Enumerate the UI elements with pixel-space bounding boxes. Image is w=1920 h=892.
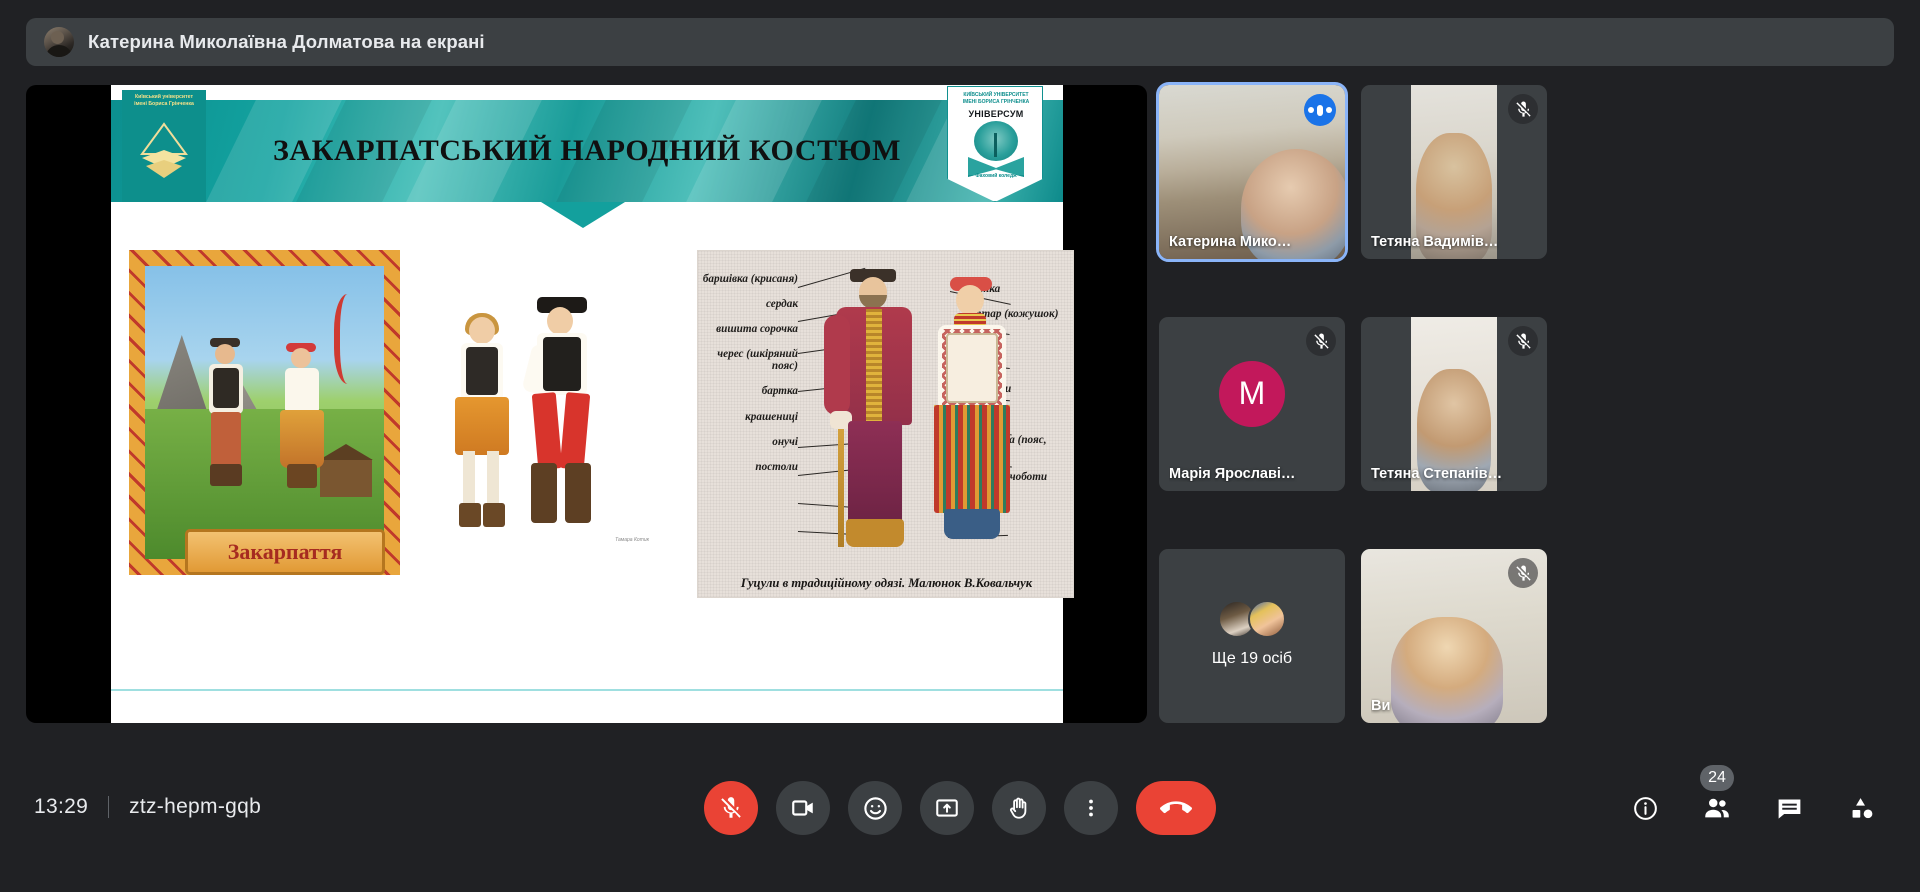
leave-call-button[interactable] — [1136, 781, 1216, 835]
right-logo-line2: ІМЕНІ БОРИСА ГРІНЧЕНКА — [963, 99, 1029, 105]
participant-tile-active-speaker[interactable]: Катерина Мико… — [1159, 85, 1345, 259]
diagram-caption: Гуцули в традиційному одязі. Малюнок В.К… — [698, 576, 1074, 591]
phone-hangup-icon — [1160, 792, 1192, 824]
chat-icon — [1775, 794, 1804, 823]
hand-icon — [1006, 795, 1032, 821]
male-figure-illustration — [826, 269, 922, 553]
mic-off-icon — [1306, 326, 1336, 356]
microphone-off-button[interactable] — [704, 781, 758, 835]
right-controls: 24 — [1622, 785, 1884, 831]
band-notch-decoration — [541, 202, 625, 228]
participant-name: Ви — [1371, 698, 1519, 714]
reactions-button[interactable] — [848, 781, 902, 835]
left-logo-line1: Київський університет — [135, 94, 193, 100]
avatar: M — [1219, 361, 1285, 427]
three-dots-icon — [1079, 796, 1103, 820]
participant-tile-self[interactable]: Ви — [1361, 549, 1547, 723]
slide-body: Закарпаття Тамара Котик баршівка (крисан… — [111, 228, 1063, 723]
presentation-slide: ЗАКАРПАТСЬКИЙ НАРОДНИЙ КОСТЮМ Київський … — [111, 85, 1063, 723]
participant-tile[interactable]: Тетяна Вадимів… — [1361, 85, 1547, 259]
book-emblem-icon — [136, 120, 192, 182]
camera-button[interactable] — [776, 781, 830, 835]
slide-divider-rule — [111, 689, 1063, 691]
call-controls — [704, 781, 1216, 835]
right-logo-sub: Фаховий коледж — [948, 173, 1043, 179]
present-icon — [934, 795, 960, 821]
clock-label: 13:29 — [34, 795, 88, 819]
video-feed — [1411, 317, 1497, 491]
more-options-button[interactable] — [1064, 781, 1118, 835]
mic-off-icon — [1508, 326, 1538, 356]
participant-name: Тетяна Вадимів… — [1371, 234, 1519, 250]
participant-name: Тетяна Степанів… — [1371, 466, 1519, 482]
overflow-label: Ще 19 осіб — [1159, 650, 1345, 668]
emoji-icon — [862, 795, 889, 822]
divider — [108, 796, 109, 818]
participant-rail: Катерина Мико… Тетяна Вадимів… M Марія Я… — [1159, 85, 1894, 723]
meeting-meta: 13:29 ztz-hepm-gqb — [34, 795, 261, 819]
speaking-indicator-icon — [1304, 94, 1336, 126]
diagram-label: постоли — [702, 461, 798, 473]
people-icon — [1702, 793, 1732, 823]
framed-illustration: Закарпаття — [129, 250, 400, 575]
mic-off-icon — [1508, 558, 1538, 588]
participant-name: Марія Ярославі… — [1169, 466, 1317, 482]
artist-signature: Тамара Котик — [615, 537, 649, 543]
participant-tile[interactable]: Тетяна Степанів… — [1361, 317, 1547, 491]
university-logo-left: Київський університет імені Бориса Грінч… — [122, 90, 206, 202]
diagram-left-labels: баршівка (крисаня) сердак вишита сорочка… — [702, 273, 798, 486]
activities-icon — [1847, 794, 1876, 823]
overflow-avatars — [1218, 600, 1286, 638]
right-logo-line1: КИЇВСЬКИЙ УНІВЕРСИТЕТ — [963, 92, 1028, 98]
participants-button[interactable]: 24 — [1694, 785, 1740, 831]
presenter-banner: Катерина Миколаївна Долматова на екрані — [26, 18, 1894, 66]
meeting-details-button[interactable] — [1622, 785, 1668, 831]
chat-button[interactable] — [1766, 785, 1812, 831]
mic-off-icon — [1508, 94, 1538, 124]
participant-tile[interactable]: M Марія Ярославі… — [1159, 317, 1345, 491]
activities-button[interactable] — [1838, 785, 1884, 831]
female-figure-illustration — [924, 277, 1020, 555]
participant-tile-overflow[interactable]: Ще 19 осіб — [1159, 549, 1345, 723]
video-feed — [1411, 85, 1497, 259]
diagram-label: черес (шкіряний пояс) — [702, 348, 798, 372]
participant-name: Катерина Мико… — [1169, 234, 1317, 250]
tree-emblem-icon — [974, 121, 1018, 161]
slide-title: ЗАКАРПАТСЬКИЙ НАРОДНИЙ КОСТЮМ — [111, 100, 1063, 202]
raise-hand-button[interactable] — [992, 781, 1046, 835]
costume-diagram: баршівка (крисаня) сердак вишита сорочка… — [697, 250, 1074, 598]
shared-screen-stage[interactable]: ЗАКАРПАТСЬКИЙ НАРОДНИЙ КОСТЮМ Київський … — [26, 85, 1147, 723]
avatar — [1248, 600, 1286, 638]
info-icon — [1632, 795, 1659, 822]
presenter-banner-label: Катерина Миколаївна Долматова на екрані — [88, 31, 485, 53]
presenter-avatar-icon — [44, 27, 74, 57]
camera-icon — [790, 795, 816, 821]
region-banner-label: Закарпаття — [185, 529, 385, 575]
dancing-pair-illustration: Тамара Котик — [441, 283, 651, 553]
diagram-label: крашениці — [702, 411, 798, 423]
participants-count-badge: 24 — [1700, 765, 1734, 791]
diagram-label: онучі — [702, 436, 798, 448]
mic-off-icon — [718, 795, 744, 821]
diagram-label: баршівка (крисаня) — [702, 273, 798, 285]
bottom-control-bar: 13:29 ztz-hepm-gqb — [0, 723, 1920, 892]
diagram-label: сердак — [702, 298, 798, 310]
left-logo-line2: імені Бориса Грінченка — [134, 101, 194, 107]
diagram-label: вишита сорочка — [702, 323, 798, 335]
university-logo-right: КИЇВСЬКИЙ УНІВЕРСИТЕТ ІМЕНІ БОРИСА ГРІНЧ… — [947, 86, 1043, 202]
diagram-label: бартка — [702, 385, 798, 397]
meeting-code-label: ztz-hepm-gqb — [129, 795, 261, 819]
meeting-window: Катерина Миколаївна Долматова на екрані … — [0, 0, 1920, 892]
present-screen-button[interactable] — [920, 781, 974, 835]
right-logo-name: УНІВЕРСУМ — [948, 109, 1043, 119]
